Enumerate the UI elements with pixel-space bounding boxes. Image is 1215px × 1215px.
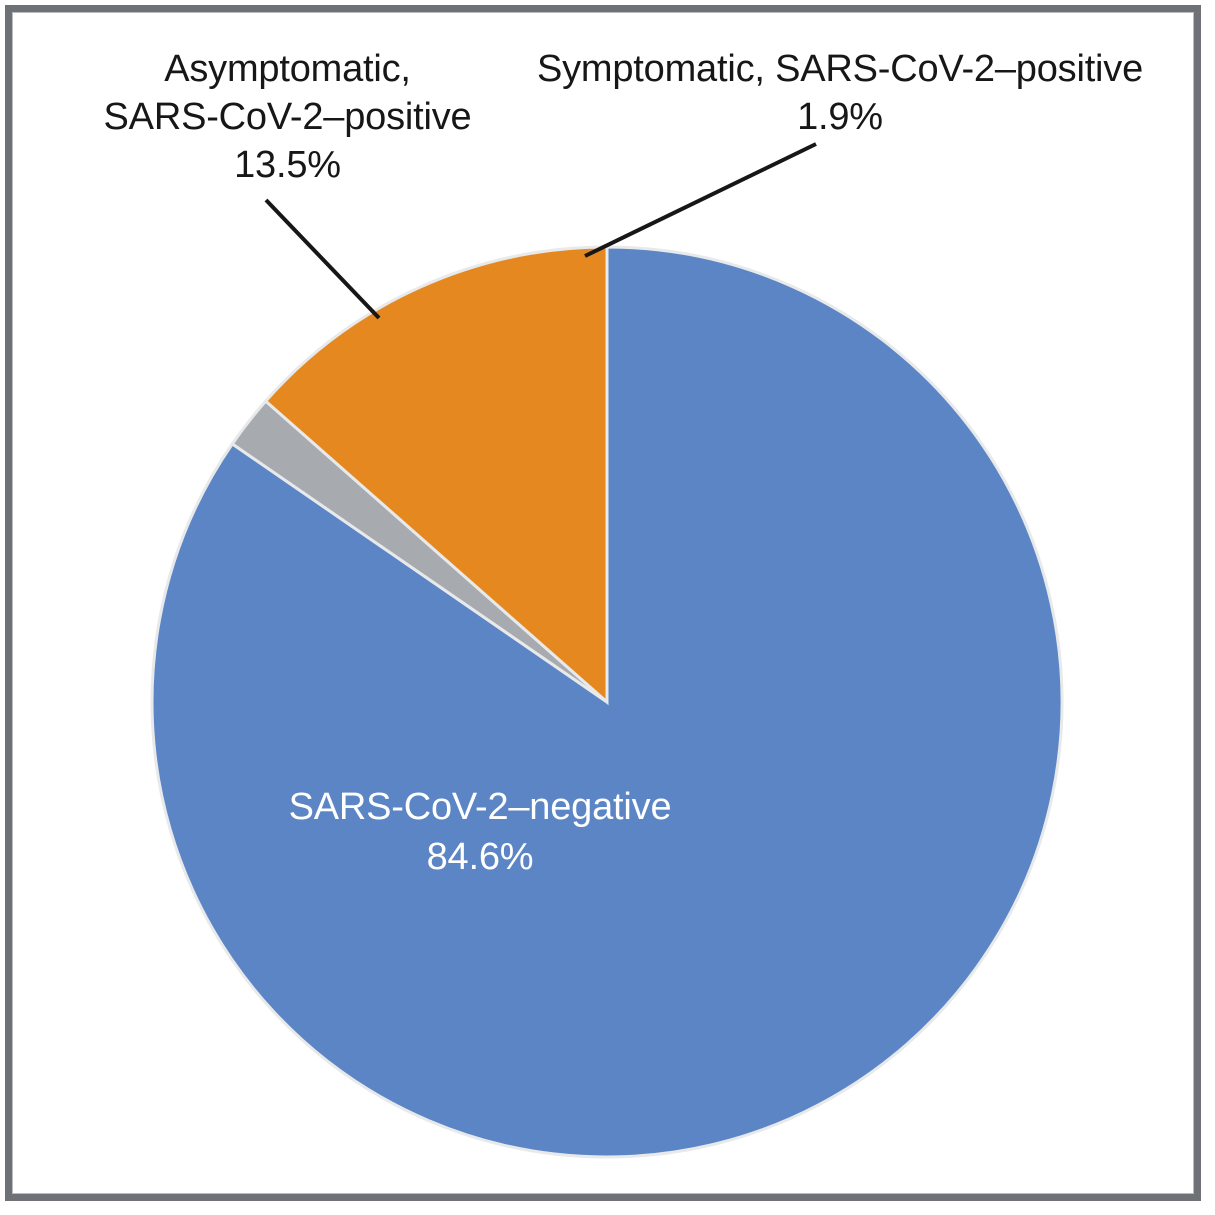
pie-slice-group	[152, 247, 1062, 1157]
slice-label-negative: SARS-CoV-2–negative 84.6%	[257, 782, 703, 882]
symptomatic-leader	[585, 144, 816, 256]
asymptomatic-leader	[266, 200, 379, 318]
slice-label-symptomatic: Symptomatic, SARS-CoV-2–positive 1.9%	[490, 45, 1190, 141]
slice-label-asymptomatic: Asymptomatic, SARS-CoV-2–positive 13.5%	[45, 45, 530, 189]
figure-container: Asymptomatic, SARS-CoV-2–positive 13.5% …	[0, 0, 1215, 1215]
page-bottom-strip	[0, 1206, 1215, 1215]
